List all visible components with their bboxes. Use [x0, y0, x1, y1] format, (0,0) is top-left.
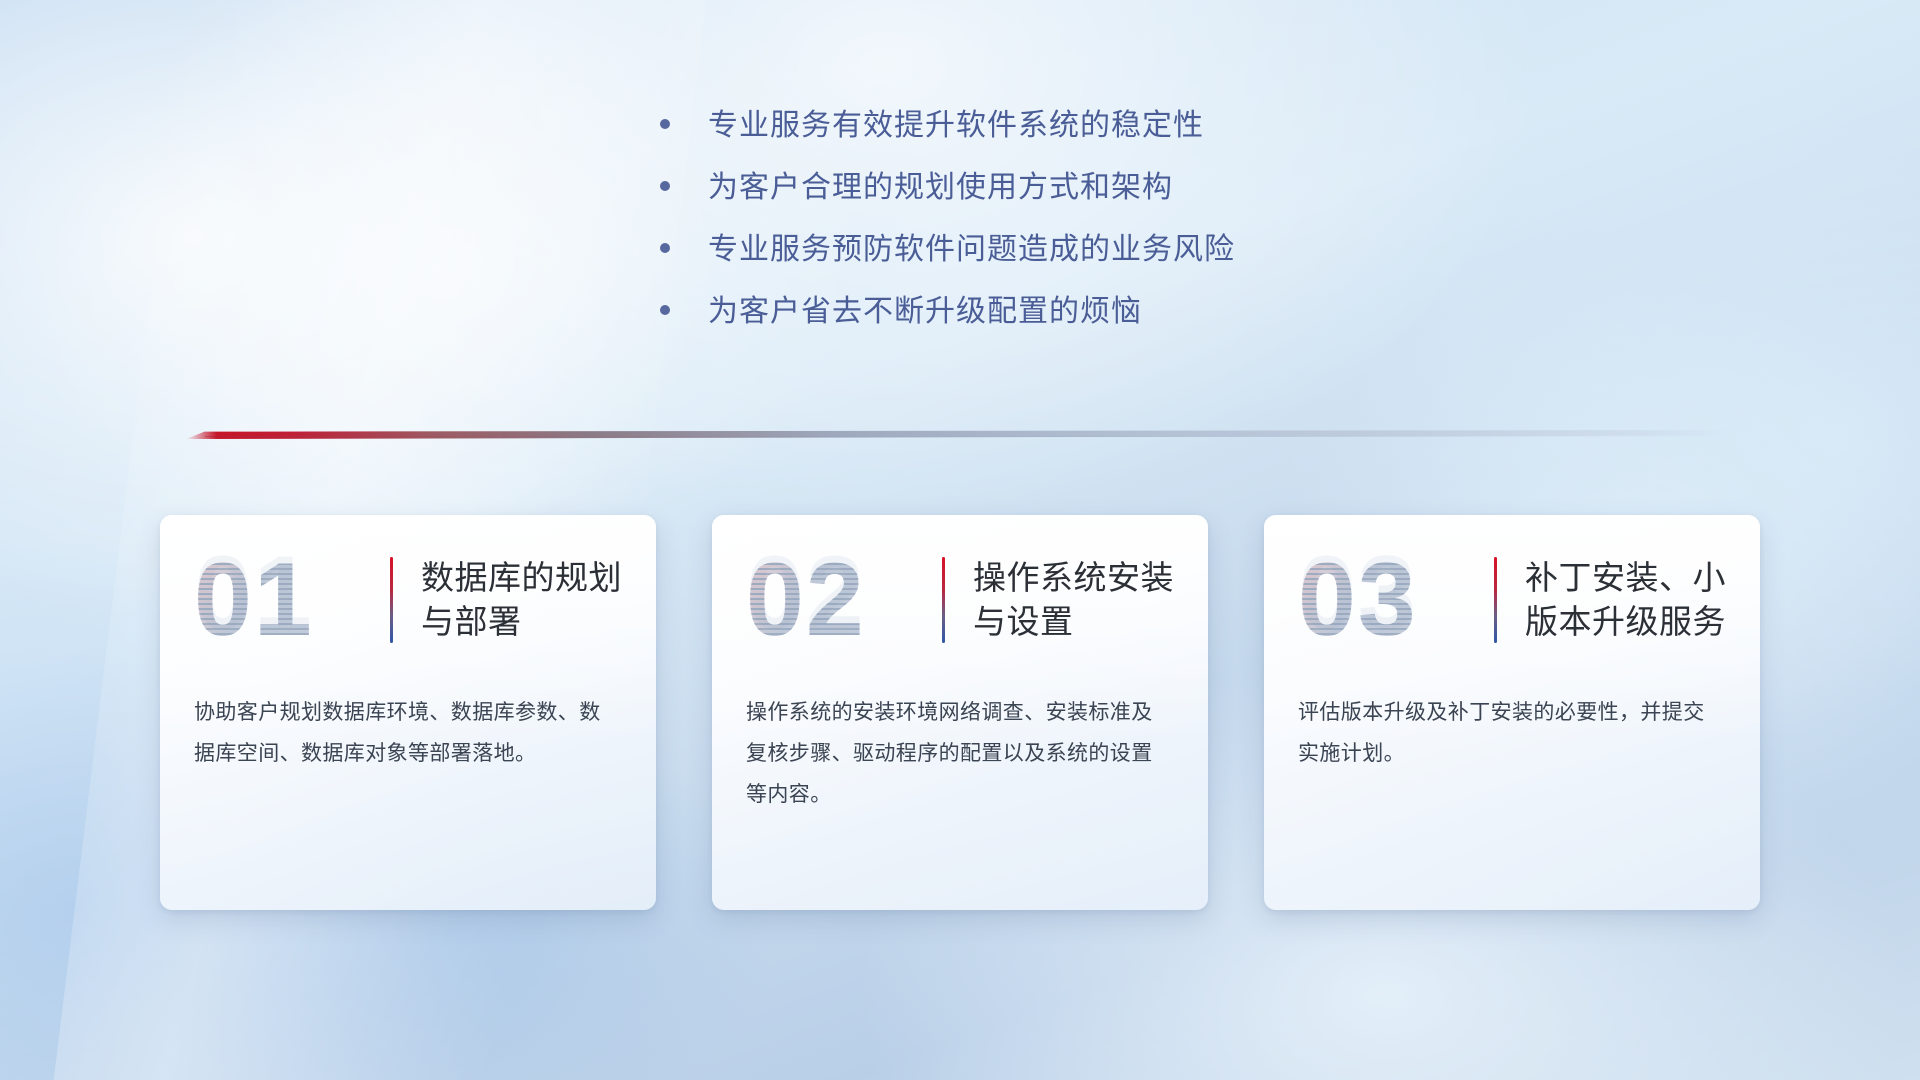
divider-hairline [205, 436, 1734, 437]
service-card[interactable]: 01 01 数据库的规划与部署 协助客户规划数据库环境、数据库参数、数据库空间、… [160, 515, 656, 910]
divider-gradient-bar [186, 430, 1734, 439]
section-divider [186, 430, 1734, 439]
service-card-row: 01 01 数据库的规划与部署 协助客户规划数据库环境、数据库参数、数据库空间、… [0, 515, 1920, 910]
card-description: 操作系统的安装环境网络调查、安装标准及复核步骤、驱动程序的配置以及系统的设置等内… [712, 667, 1208, 816]
bullet-dot-icon [660, 181, 670, 191]
service-card[interactable]: 03 03 补丁安装、小版本升级服务 评估版本升级及补丁安装的必要性，并提交实施… [1264, 515, 1760, 910]
card-title: 数据库的规划与部署 [421, 556, 626, 643]
bullet-dot-icon [660, 305, 670, 315]
bullet-item: 专业服务有效提升软件系统的稳定性 [660, 108, 1420, 144]
card-accent-rule [1494, 557, 1497, 643]
card-title: 操作系统安装与设置 [973, 556, 1178, 643]
slide-root: 专业服务有效提升软件系统的稳定性 为客户合理的规划使用方式和架构 专业服务预防软… [0, 0, 1920, 1080]
card-header: 01 01 数据库的规划与部署 [160, 515, 656, 667]
bullet-item: 为客户合理的规划使用方式和架构 [660, 170, 1420, 206]
bullet-item-label: 为客户省去不断升级配置的烦恼 [708, 294, 1142, 330]
benefits-bullet-list: 专业服务有效提升软件系统的稳定性 为客户合理的规划使用方式和架构 专业服务预防软… [660, 108, 1420, 356]
bullet-item-label: 专业服务有效提升软件系统的稳定性 [708, 108, 1204, 144]
bullet-dot-icon [660, 243, 670, 253]
card-number-watermark: 01 [194, 548, 390, 652]
card-description: 协助客户规划数据库环境、数据库参数、数据库空间、数据库对象等部署落地。 [160, 667, 656, 775]
card-header: 03 03 补丁安装、小版本升级服务 [1264, 515, 1760, 667]
bullet-dot-icon [660, 119, 670, 129]
card-header: 02 02 操作系统安装与设置 [712, 515, 1208, 667]
bullet-item-label: 为客户合理的规划使用方式和架构 [708, 170, 1173, 206]
card-number-watermark: 02 [746, 548, 942, 652]
card-number-watermark: 03 [1298, 548, 1494, 652]
service-card[interactable]: 02 02 操作系统安装与设置 操作系统的安装环境网络调查、安装标准及复核步骤、… [712, 515, 1208, 910]
bullet-item: 为客户省去不断升级配置的烦恼 [660, 294, 1420, 330]
card-accent-rule [390, 557, 393, 643]
card-description: 评估版本升级及补丁安装的必要性，并提交实施计划。 [1264, 667, 1760, 775]
bullet-item-label: 专业服务预防软件问题造成的业务风险 [708, 232, 1235, 268]
card-accent-rule [942, 557, 945, 643]
card-title: 补丁安装、小版本升级服务 [1525, 556, 1730, 643]
bullet-item: 专业服务预防软件问题造成的业务风险 [660, 232, 1420, 268]
